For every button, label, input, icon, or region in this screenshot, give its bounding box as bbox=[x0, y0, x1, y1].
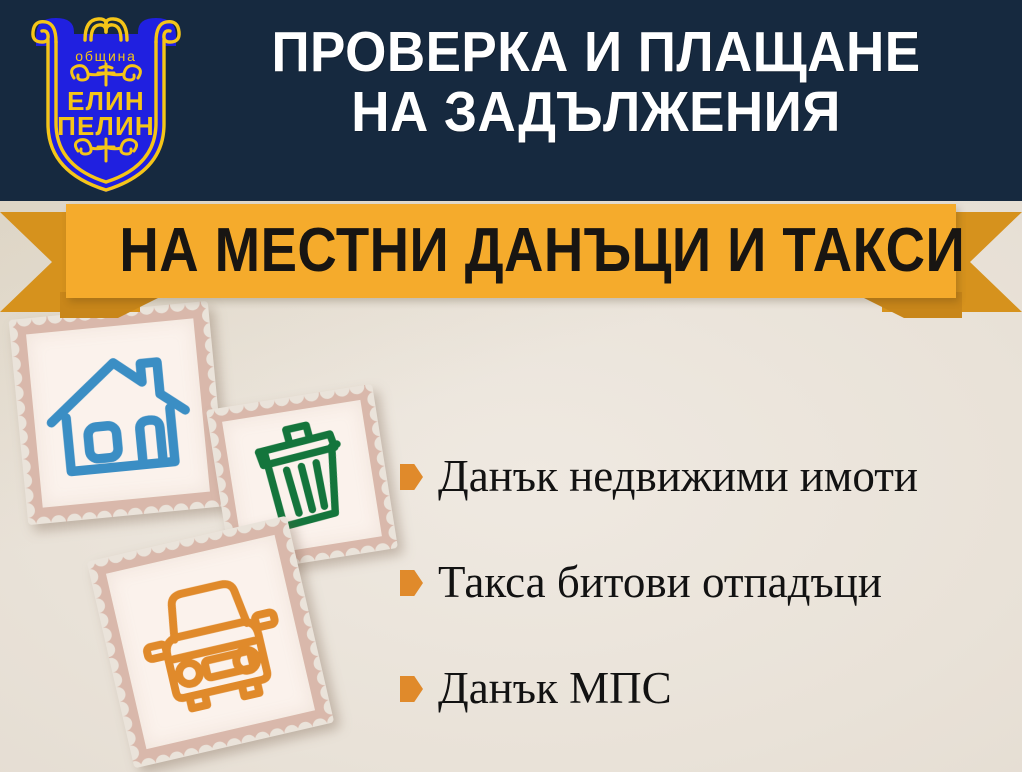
list-item-label: Данък недвижими имоти bbox=[438, 453, 918, 500]
house-icon bbox=[26, 318, 210, 507]
arrow-bullet-icon bbox=[400, 464, 423, 490]
emblem-text-pelin: ПЕЛИН bbox=[57, 111, 155, 141]
emblem-text-obshtina: община bbox=[75, 48, 136, 64]
ribbon-band: НА МЕСТНИ ДАНЪЦИ И ТАКСИ bbox=[66, 204, 956, 298]
stamp-paper bbox=[26, 318, 210, 507]
municipality-emblem: община ЕЛИН ПЕЛИН bbox=[22, 6, 190, 196]
arrow-bullet-icon bbox=[400, 570, 423, 596]
ribbon-subtitle: НА МЕСТНИ ДАНЪЦИ И ТАКСИ bbox=[119, 214, 902, 288]
page-title: ПРОВЕРКА И ПЛАЩАНЕ НА ЗАДЪЛЖЕНИЯ bbox=[217, 22, 976, 143]
stamp-card-house bbox=[9, 301, 228, 525]
tax-type-list: Данък недвижими имоти Такса битови отпад… bbox=[400, 424, 1010, 742]
list-item-label: Такса битови отпадъци bbox=[438, 559, 882, 606]
stamp-frame bbox=[9, 301, 228, 525]
poster-root: ПРОВЕРКА И ПЛАЩАНЕ НА ЗАДЪЛЖЕНИЯ bbox=[0, 0, 1022, 772]
stamp-paper bbox=[106, 535, 315, 749]
ribbon-banner: НА МЕСТНИ ДАНЪЦИ И ТАКСИ bbox=[0, 196, 1022, 322]
car-front-icon bbox=[106, 535, 315, 749]
arrow-bullet-icon bbox=[400, 676, 423, 702]
list-item[interactable]: Данък недвижими имоти bbox=[400, 424, 1010, 530]
list-item[interactable]: Данък МПС bbox=[400, 636, 1010, 742]
list-item-label: Данък МПС bbox=[438, 665, 672, 712]
list-item[interactable]: Такса битови отпадъци bbox=[400, 530, 1010, 636]
